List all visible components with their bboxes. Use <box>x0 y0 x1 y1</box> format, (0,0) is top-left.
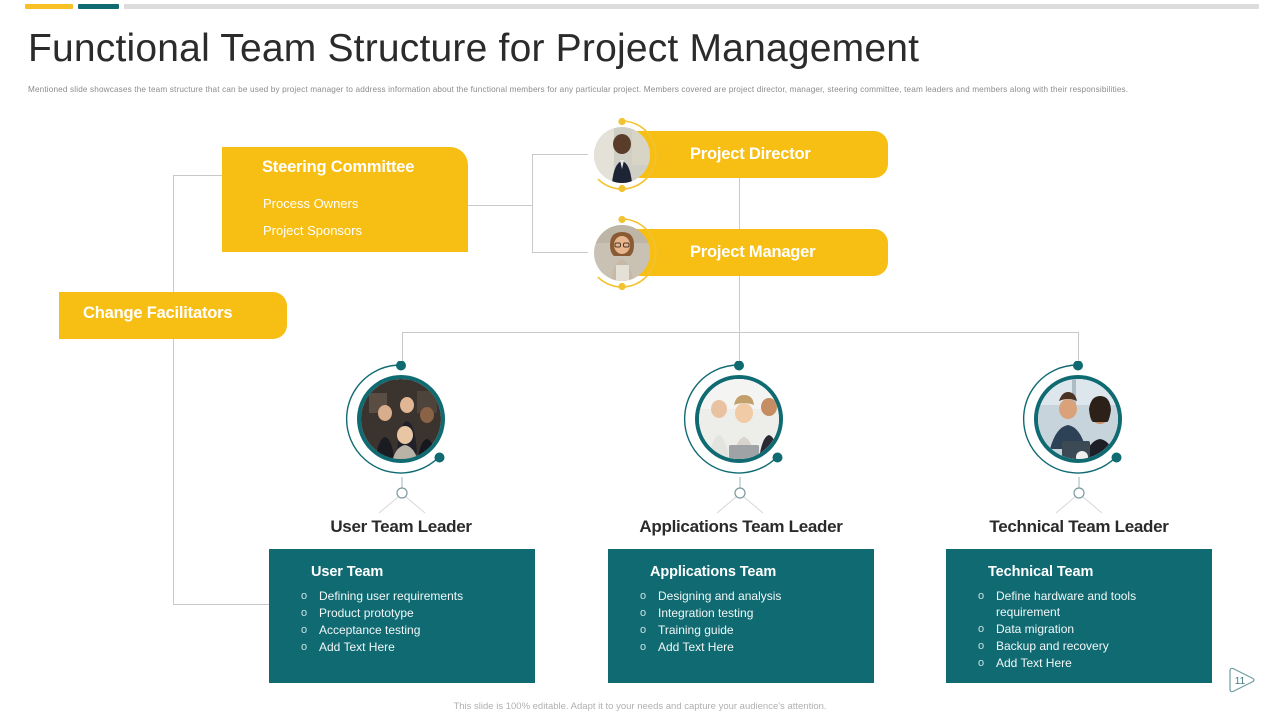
technical-team-box[interactable]: Technical Team Define hardware and tools… <box>946 549 1212 683</box>
list-item: Defining user requirements <box>297 588 525 604</box>
user-team-avatar <box>343 361 459 477</box>
page-subtitle: Mentioned slide showcases the team struc… <box>28 85 1243 94</box>
accent-bar-gray <box>124 4 1259 9</box>
steering-committee-item-0: Process Owners <box>263 196 358 211</box>
project-manager-photo <box>594 225 650 281</box>
list-item: Backup and recovery <box>974 638 1202 654</box>
project-director-avatar <box>585 118 659 192</box>
steering-committee-item-1: Project Sponsors <box>263 223 362 238</box>
project-manager-box[interactable]: Project Manager <box>636 229 888 276</box>
technical-team-leader-label: Technical Team Leader <box>929 517 1229 537</box>
user-team-leader-label: User Team Leader <box>251 517 551 537</box>
user-team-item-list: Defining user requirements Product proto… <box>297 588 525 656</box>
user-team-box-title: User Team <box>311 564 383 580</box>
page-number: 11 <box>1225 664 1259 698</box>
project-director-photo <box>594 127 650 183</box>
steering-committee-title: Steering Committee <box>262 158 414 177</box>
page-title: Functional Team Structure for Project Ma… <box>28 27 919 71</box>
list-item: Product prototype <box>297 605 525 621</box>
user-team-box[interactable]: User Team Defining user requirements Pro… <box>269 549 535 683</box>
list-item: Acceptance testing <box>297 622 525 638</box>
accent-bar-yellow <box>25 4 73 9</box>
user-team-connector-node <box>377 477 427 515</box>
project-manager-label: Project Manager <box>690 243 815 262</box>
connector-steering-right <box>468 205 533 206</box>
list-item: Data migration <box>974 621 1202 637</box>
accent-bar-teal <box>78 4 119 9</box>
applications-team-item-list: Designing and analysis Integration testi… <box>636 588 864 656</box>
technical-team-box-title: Technical Team <box>988 564 1093 580</box>
applications-team-connector-node <box>715 477 765 515</box>
change-facilitators-label: Change Facilitators <box>83 304 232 323</box>
steering-committee-box[interactable]: Steering Committee Process Owners Projec… <box>222 147 468 252</box>
applications-team-photo <box>695 375 783 463</box>
list-item: Integration testing <box>636 605 864 621</box>
technical-team-photo <box>1034 375 1122 463</box>
change-facilitators-box[interactable]: Change Facilitators <box>59 292 287 339</box>
list-item: Add Text Here <box>297 639 525 655</box>
slide-canvas: Functional Team Structure for Project Ma… <box>0 0 1280 720</box>
connector-to-manager <box>532 252 588 253</box>
connector-left-spine <box>173 175 174 605</box>
page-number-badge: 11 <box>1225 664 1259 698</box>
connector-to-director <box>532 154 588 155</box>
project-director-label: Project Director <box>690 145 811 164</box>
applications-team-avatar <box>681 361 797 477</box>
footer-note: This slide is 100% editable. Adapt it to… <box>0 701 1280 712</box>
connector-exec-spine <box>532 154 533 252</box>
connector-left-to-user-team <box>173 604 270 605</box>
list-item: Add Text Here <box>974 655 1202 671</box>
list-item: Designing and analysis <box>636 588 864 604</box>
technical-team-item-list: Define hardware and tools requirement Da… <box>974 588 1202 672</box>
applications-team-leader-label: Applications Team Leader <box>591 517 891 537</box>
connector-team-distribution <box>402 332 1079 333</box>
project-director-box[interactable]: Project Director <box>636 131 888 178</box>
technical-team-avatar <box>1020 361 1136 477</box>
technical-team-connector-node <box>1054 477 1104 515</box>
list-item: Add Text Here <box>636 639 864 655</box>
user-team-photo <box>357 375 445 463</box>
connector-steering-left <box>173 175 223 176</box>
applications-team-box[interactable]: Applications Team Designing and analysis… <box>608 549 874 683</box>
list-item: Training guide <box>636 622 864 638</box>
list-item: Define hardware and tools requirement <box>974 588 1202 620</box>
applications-team-box-title: Applications Team <box>650 564 776 580</box>
project-manager-avatar <box>585 216 659 290</box>
